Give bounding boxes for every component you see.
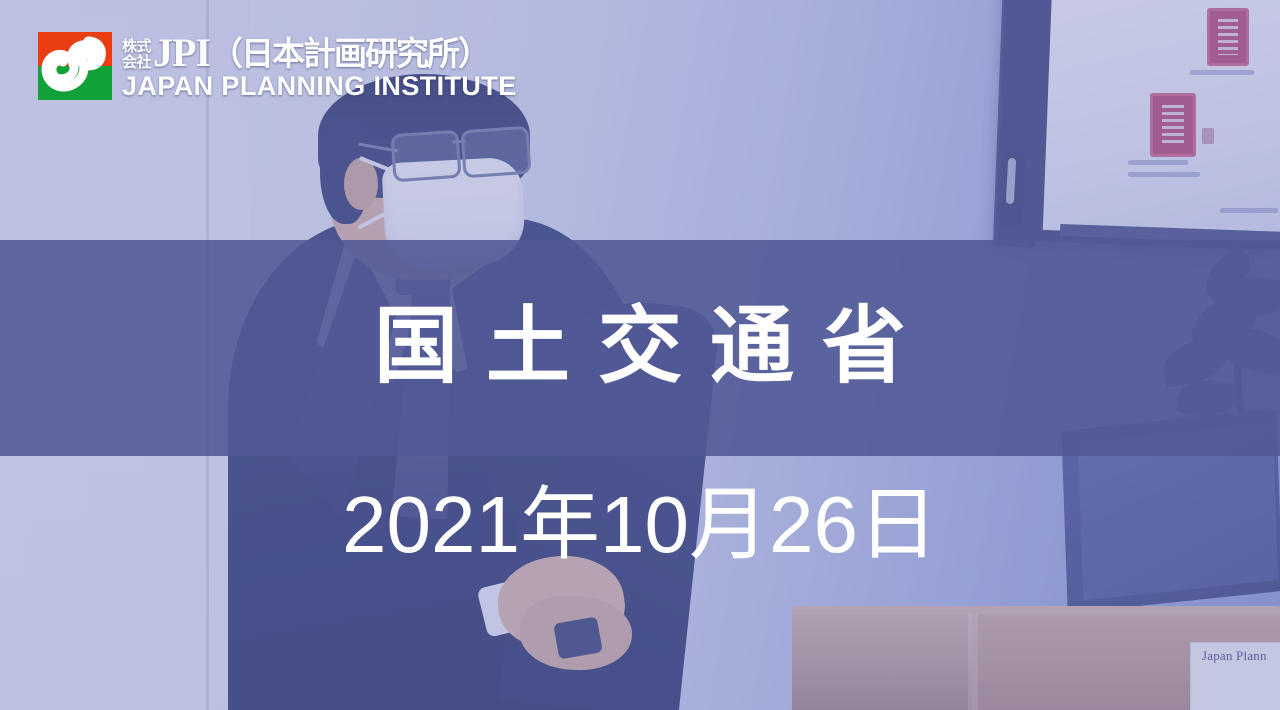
jpi-logo-wordmark: 株式 会社 JPI （日本計画研究所） JAPAN PLANNING INSTI… xyxy=(122,32,517,101)
eyeglasses-lens-left xyxy=(390,130,461,183)
logo-kabu-line2: 会社 xyxy=(122,55,151,71)
ministry-title: 国土交通省 xyxy=(0,298,1280,394)
slide-text-line xyxy=(1220,208,1278,213)
podium-edge xyxy=(968,614,978,710)
slide-text-line xyxy=(1190,70,1254,75)
logo-brand-jpi: JPI xyxy=(153,33,210,73)
slide-text-line xyxy=(1128,160,1188,165)
slide-badge-icon xyxy=(1207,8,1249,66)
jpi-logo: 株式 会社 JPI （日本計画研究所） JAPAN PLANNING INSTI… xyxy=(38,32,517,101)
logo-kabu-line1: 株式 xyxy=(122,39,151,55)
podium-front-panel xyxy=(792,614,972,710)
event-date: 2021年10月26日 xyxy=(0,478,1280,572)
slide-canvas: Japan Plann xyxy=(0,0,1280,710)
jpi-logo-line-jp: 株式 会社 JPI （日本計画研究所） xyxy=(122,33,517,73)
slide-text-line xyxy=(1128,172,1200,177)
podium-sign-text: Japan Plann xyxy=(1202,648,1280,664)
jpi-logo-line-en: JAPAN PLANNING INSTITUTE xyxy=(122,71,517,101)
logo-kabushikigaisha: 株式 会社 xyxy=(122,39,151,73)
logo-brand-paren: （日本計画研究所） xyxy=(210,35,489,73)
slide-text-line xyxy=(1202,128,1214,144)
eyeglasses-lens-right xyxy=(460,126,531,179)
jpi-logo-mark-icon xyxy=(38,32,112,100)
slide-badge-icon xyxy=(1150,93,1196,157)
logo-glyph-icon xyxy=(38,32,112,100)
presenter-clicker xyxy=(553,616,603,659)
speaker-ear xyxy=(344,158,378,210)
